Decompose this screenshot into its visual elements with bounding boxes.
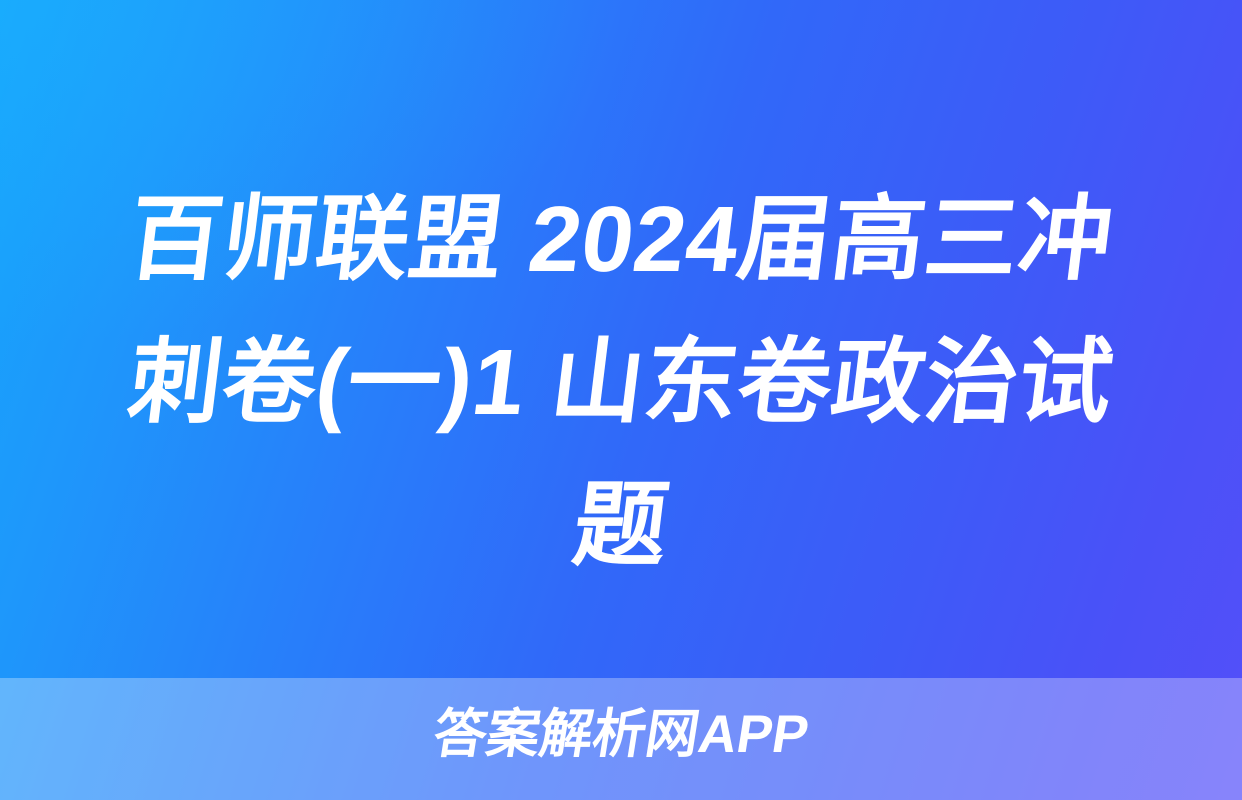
page-title-block: 百师联盟 2024届高三冲 刺卷(一)1 山东卷政治试 题 — [72, 168, 1170, 597]
watermark-row: 答案解析网APP — [0, 698, 1242, 770]
exam-cover-poster: 百师联盟 2024届高三冲 刺卷(一)1 山东卷政治试 题 答案解析网APP — [0, 0, 1242, 800]
page-title-line-1: 百师联盟 2024届高三冲 — [63, 168, 1179, 311]
page-title-line-2: 刺卷(一)1 山东卷政治试 — [63, 311, 1179, 454]
app-watermark-label: 答案解析网APP — [430, 708, 812, 761]
page-title-line-3: 题 — [63, 454, 1179, 597]
